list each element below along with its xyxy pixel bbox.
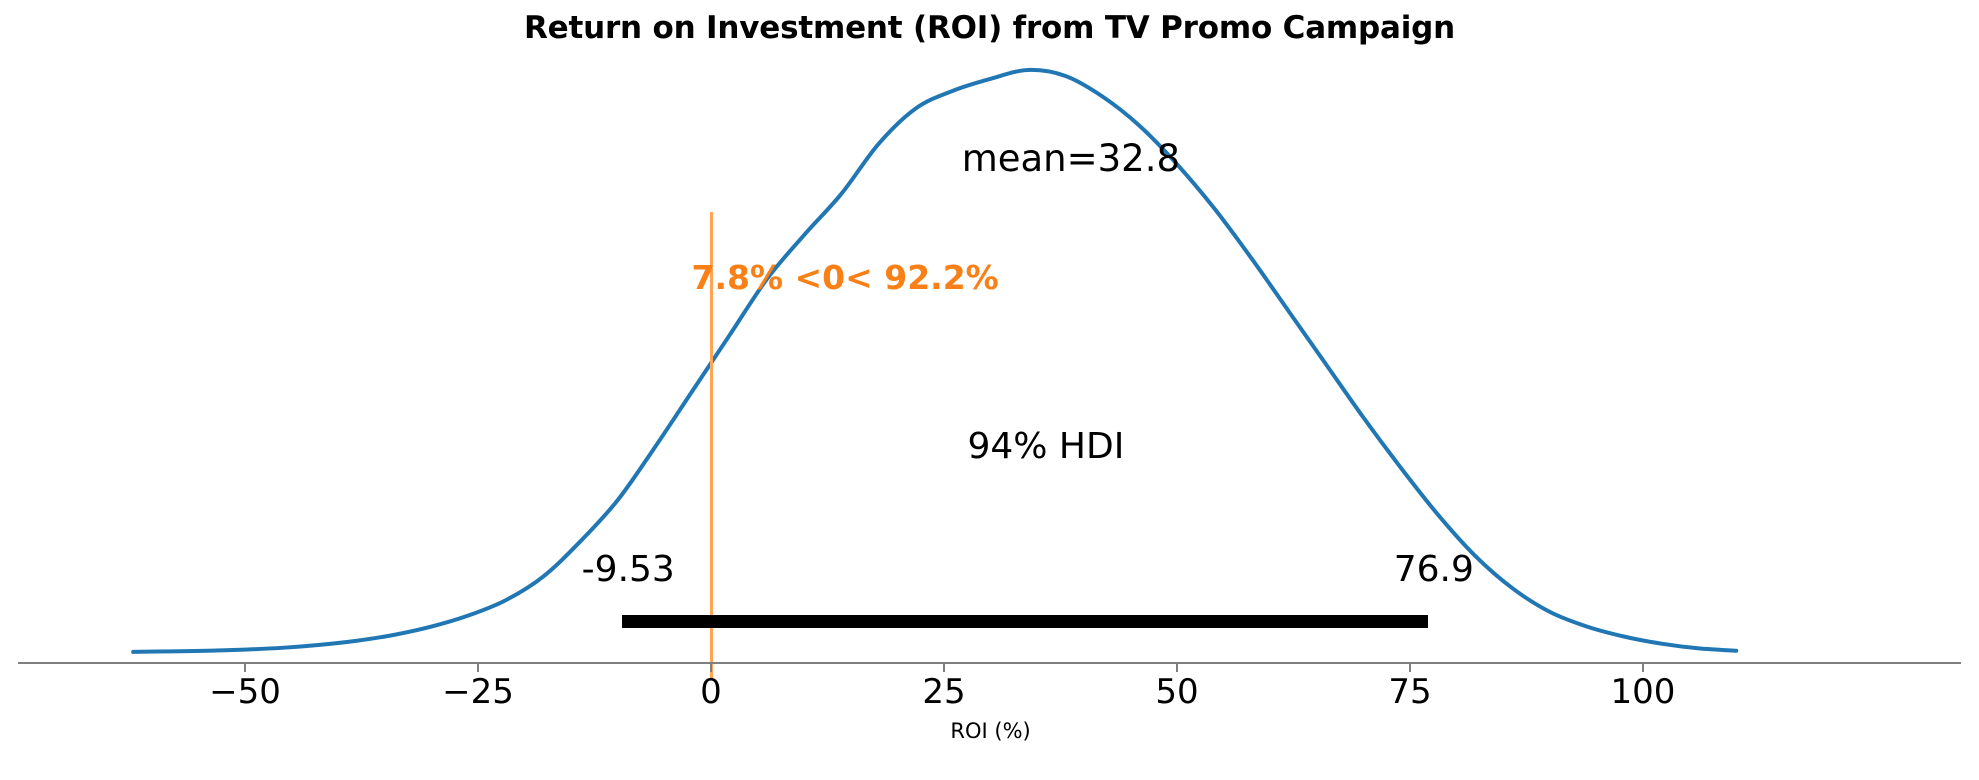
x-tick-mark: [710, 662, 712, 672]
hdi-probability-annotation: 94% HDI: [967, 426, 1124, 467]
x-tick-mark: [244, 662, 246, 672]
hdi-upper-bound-label: 76.9: [1394, 549, 1474, 590]
x-tick-mark: [943, 662, 945, 672]
kde-density-line: [133, 70, 1736, 652]
x-tick-mark: [1176, 662, 1178, 672]
x-tick-label: −25: [442, 672, 514, 712]
x-tick-label: 100: [1611, 672, 1676, 712]
reference-probability-annotation: 7.8% <0< 92.2%: [692, 258, 999, 297]
x-axis-spine: [18, 662, 1961, 664]
x-tick-label: −50: [209, 672, 281, 712]
posterior-plot-figure: Return on Investment (ROI) from TV Promo…: [0, 0, 1979, 780]
x-axis-label: ROI (%): [950, 719, 1030, 743]
hdi-interval-bar: [622, 615, 1428, 628]
x-tick-mark: [1642, 662, 1644, 672]
x-tick-label: 50: [1155, 672, 1198, 712]
x-tick-label: 25: [922, 672, 965, 712]
x-tick-mark: [477, 662, 479, 672]
mean-annotation: mean=32.8: [962, 137, 1180, 180]
hdi-lower-bound-label: -9.53: [582, 549, 675, 590]
x-tick-label: 75: [1388, 672, 1431, 712]
x-tick-mark: [1409, 662, 1411, 672]
x-tick-label: 0: [700, 672, 722, 712]
plot-area: mean=32.8 7.8% <0< 92.2% 94% HDI -9.53 7…: [0, 0, 1979, 780]
